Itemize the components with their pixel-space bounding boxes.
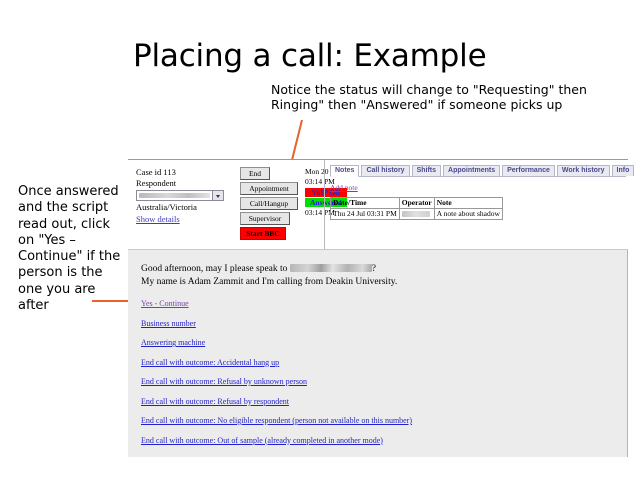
script-line-1-prefix: Good afternoon, may I please speak to bbox=[141, 264, 290, 274]
link-end-call-no-eligible-respondent[interactable]: End call with outcome: No eligible respo… bbox=[141, 416, 412, 425]
link-end-call-out-of-sample[interactable]: End call with outcome: Out of sample (al… bbox=[141, 436, 383, 445]
case-id-label: Case id 113 bbox=[136, 167, 232, 178]
tab-performance[interactable]: Performance bbox=[502, 165, 555, 176]
tab-work-history[interactable]: Work history bbox=[557, 165, 610, 176]
respondent-label: Respondent bbox=[136, 178, 232, 189]
column-header-operator: Operator bbox=[399, 198, 434, 209]
tab-appointments[interactable]: Appointments bbox=[443, 165, 500, 176]
table-row[interactable]: Thu 24 Jul 03:31 PM A note about shadow bbox=[331, 209, 503, 220]
tab-shifts[interactable]: Shifts bbox=[412, 165, 441, 176]
call-hangup-button[interactable]: Call/Hangup bbox=[240, 197, 298, 210]
link-end-call-refusal-respondent[interactable]: End call with outcome: Refusal by respon… bbox=[141, 397, 289, 406]
link-end-call-refusal-unknown-person[interactable]: End call with outcome: Refusal by unknow… bbox=[141, 377, 307, 386]
call-action-buttons: End Appointment Call/Hangup Supervisor S… bbox=[240, 167, 300, 242]
annotation-status-change: Notice the status will change to "Reques… bbox=[271, 82, 601, 112]
case-info-panel: Case id 113 Respondent Australia/Victori… bbox=[136, 167, 232, 225]
call-application-window: Case id 113 Respondent Australia/Victori… bbox=[128, 159, 628, 456]
link-answering-machine[interactable]: Answering machine bbox=[141, 338, 205, 347]
tab-info[interactable]: Info bbox=[612, 165, 635, 176]
operator-redacted bbox=[402, 211, 430, 217]
annotation-yes-continue: Once answered and the script read out, c… bbox=[18, 184, 128, 314]
appointment-button[interactable]: Appointment bbox=[240, 182, 298, 195]
tab-call-history[interactable]: Call history bbox=[361, 165, 409, 176]
cell-operator bbox=[399, 209, 434, 220]
link-business-number[interactable]: Business number bbox=[141, 319, 196, 328]
show-details-link[interactable]: Show details bbox=[136, 214, 180, 225]
script-text: Good afternoon, may I please speak to ? … bbox=[141, 263, 627, 288]
link-end-call-accidental-hangup[interactable]: End call with outcome: Accidental hang u… bbox=[141, 358, 279, 367]
chevron-down-icon[interactable] bbox=[212, 191, 223, 200]
tab-bar: Notes Call history Shifts Appointments P… bbox=[330, 165, 626, 177]
supervisor-button[interactable]: Supervisor bbox=[240, 212, 290, 225]
end-button[interactable]: End bbox=[240, 167, 270, 180]
column-header-datetime: Date/Time bbox=[331, 198, 400, 209]
timezone-region-label: Australia/Victoria bbox=[136, 202, 232, 213]
tab-notes[interactable]: Notes bbox=[330, 165, 359, 177]
script-line-1-suffix: ? bbox=[372, 264, 376, 274]
tab-panel: Notes Call history Shifts Appointments P… bbox=[330, 165, 626, 249]
column-header-note: Note bbox=[434, 198, 502, 209]
cell-datetime: Thu 24 Jul 03:31 PM bbox=[331, 209, 400, 220]
page-title: Placing a call: Example bbox=[133, 38, 486, 74]
script-line-2: My name is Adam Zammit and I'm calling f… bbox=[141, 276, 627, 289]
link-yes-continue[interactable]: Yes - Continue bbox=[141, 299, 189, 308]
start-bbc-button[interactable]: Start BBC bbox=[240, 227, 286, 240]
respondent-select[interactable] bbox=[136, 190, 224, 201]
notes-table: Date/Time Operator Note Thu 24 Jul 03:31… bbox=[330, 197, 503, 220]
panel-divider bbox=[324, 160, 325, 249]
script-line-1: Good afternoon, may I please speak to ? bbox=[141, 263, 627, 276]
respondent-name-redacted bbox=[290, 264, 372, 272]
script-outcome-links: Yes - Continue Business number Answering… bbox=[141, 299, 627, 445]
add-note-link[interactable]: Add note bbox=[330, 183, 358, 192]
script-region: Good afternoon, may I please speak to ? … bbox=[128, 250, 628, 457]
cell-note: A note about shadow bbox=[434, 209, 502, 220]
respondent-select-value bbox=[139, 193, 210, 198]
table-header-row: Date/Time Operator Note bbox=[331, 198, 503, 209]
app-top-region: Case id 113 Respondent Australia/Victori… bbox=[128, 160, 628, 250]
